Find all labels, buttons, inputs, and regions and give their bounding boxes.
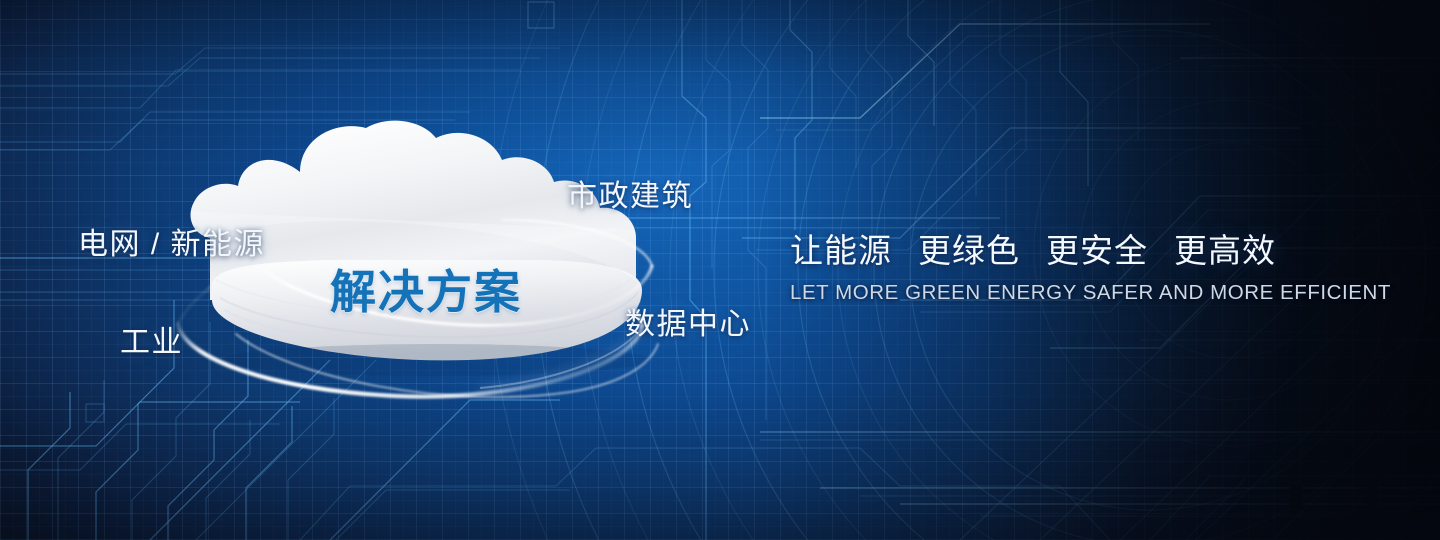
solution-hero-banner: 电网 / 新能源 工业 市政建筑 数据中心 解决方案 让能源更绿色更安全更高效 … xyxy=(0,0,1440,540)
headline-english: LET MORE GREEN ENERGY SAFER AND MORE EFF… xyxy=(790,281,1350,305)
headline-segment-4: 更高效 xyxy=(1174,224,1276,272)
label-civic-building: 市政建筑 xyxy=(567,171,693,215)
headline-block: 让能源更绿色更安全更高效 LET MORE GREEN ENERGY SAFER… xyxy=(790,224,1350,305)
headline-segment-2: 更绿色 xyxy=(918,224,1020,272)
label-grid-new-energy: 电网 / 新能源 xyxy=(78,219,265,263)
cloud-title: 解决方案 xyxy=(330,256,522,322)
label-data-center: 数据中心 xyxy=(625,299,751,343)
headline-segment-3: 更安全 xyxy=(1046,224,1148,272)
headline-chinese: 让能源更绿色更安全更高效 xyxy=(790,224,1350,272)
headline-segment-1: 让能源 xyxy=(790,224,892,272)
label-industry: 工业 xyxy=(120,317,183,361)
